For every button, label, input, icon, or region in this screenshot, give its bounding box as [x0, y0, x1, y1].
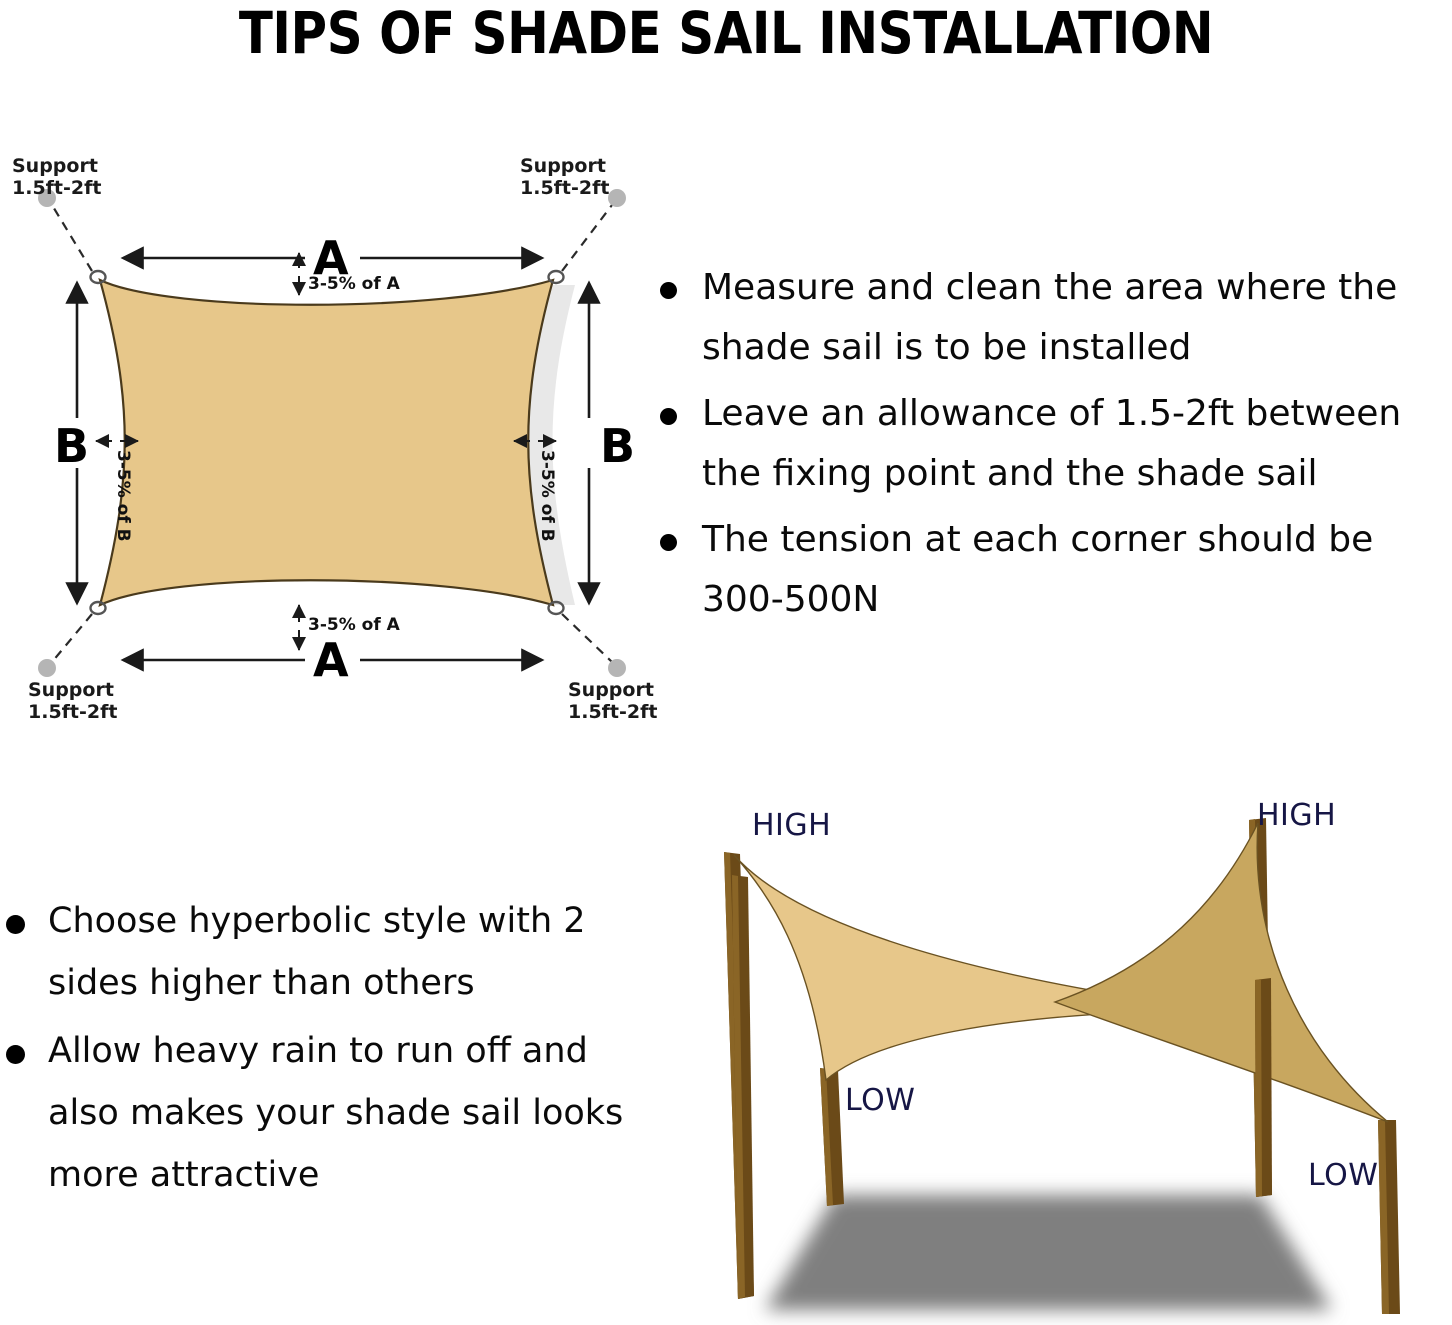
hyperbolic-tip-text: Allow heavy rain to run off and also mak…: [48, 1031, 623, 1195]
bullet-dot-icon: [6, 1045, 25, 1064]
pole-high-right-front: [1255, 978, 1272, 1197]
tip-text: Leave an allowance of 1.5-2ft between th…: [702, 393, 1401, 494]
label-low-right: LOW: [1308, 1158, 1378, 1193]
bullet-dot-icon: [6, 915, 25, 934]
shade-sail-body: [100, 280, 553, 605]
support-label-title: Support: [28, 679, 114, 701]
dimension-arrow-left: B: [54, 283, 89, 603]
list-item: The tension at each corner should be 300…: [648, 510, 1452, 630]
hyperbolic-bullet-list: Choose hyperbolic style with 2 sides hig…: [0, 890, 630, 1206]
support-label-bottom-right: Support 1.5ft-2ft: [568, 679, 657, 723]
support-label-title: Support: [520, 155, 606, 177]
support-line-top-right: [562, 205, 612, 271]
label-high-right: HIGH: [1257, 798, 1336, 833]
label-high-left: HIGH: [752, 808, 831, 843]
tip-text: The tension at each corner should be 300…: [702, 519, 1373, 620]
dimension-arrow-right: B: [589, 283, 635, 603]
support-dot-bottom-right: [608, 659, 626, 677]
curve-depth-bottom-label: 3-5% of A: [308, 615, 401, 635]
hyperbolic-tips-list: Choose hyperbolic style with 2 sides hig…: [0, 890, 630, 1240]
bullet-dot-icon: [660, 408, 677, 425]
bullet-dot-icon: [660, 282, 677, 299]
pole-high-left-front: [732, 875, 754, 1299]
curve-depth-top-label: 3-5% of A: [308, 274, 401, 294]
curve-depth-right-label: 3-5% of B: [537, 450, 557, 542]
ground-shadow: [765, 1195, 1332, 1310]
support-dot-top-right: [608, 189, 626, 207]
shade-sail-dark: [1055, 823, 1388, 1122]
hyperbolic-sail-illustration: HIGH HIGH LOW LOW: [660, 780, 1452, 1325]
dimension-arrow-bottom: A: [123, 633, 542, 687]
list-item: Choose hyperbolic style with 2 sides hig…: [0, 890, 630, 1014]
label-low-left: LOW: [845, 1083, 915, 1118]
list-item: Measure and clean the area where the sha…: [648, 258, 1452, 378]
support-line-top-left: [52, 205, 92, 271]
support-label-value: 1.5ft-2ft: [12, 177, 101, 199]
pole-low-right: [1378, 1120, 1400, 1314]
support-dot-bottom-left: [38, 659, 56, 677]
tip-text: Measure and clean the area where the sha…: [702, 267, 1397, 368]
installation-tips-list: Measure and clean the area where the sha…: [648, 258, 1452, 658]
corner-ring-top-right: [549, 271, 564, 283]
support-label-top-right: Support 1.5ft-2ft: [520, 155, 609, 199]
curve-depth-left: 3-5% of B: [96, 441, 138, 542]
dimension-letter-left: B: [54, 419, 89, 473]
corner-ring-bottom-left: [91, 602, 106, 614]
page-title: TIPS OF SHADE SAIL INSTALLATION: [102, 0, 1351, 66]
support-label-top-left: Support 1.5ft-2ft: [12, 155, 101, 199]
support-label-value: 1.5ft-2ft: [520, 177, 609, 199]
support-label-title: Support: [12, 155, 98, 177]
shade-sail-dimension-diagram: Support 1.5ft-2ft Support 1.5ft-2ft Supp…: [0, 150, 660, 740]
support-line-bottom-left: [52, 614, 92, 662]
hyperbolic-tip-text: Choose hyperbolic style with 2 sides hig…: [48, 901, 586, 1003]
support-label-title: Support: [568, 679, 654, 701]
support-label-bottom-left: Support 1.5ft-2ft: [28, 679, 117, 723]
support-label-value: 1.5ft-2ft: [28, 701, 117, 723]
corner-ring-top-left: [91, 271, 106, 283]
bullet-dot-icon: [660, 534, 677, 551]
support-label-value: 1.5ft-2ft: [568, 701, 657, 723]
pole-low-left: [820, 1068, 844, 1206]
support-line-bottom-right: [562, 614, 612, 662]
list-item: Allow heavy rain to run off and also mak…: [0, 1020, 630, 1206]
list-item: Leave an allowance of 1.5-2ft between th…: [648, 384, 1452, 504]
dimension-letter-bottom: A: [313, 633, 349, 687]
tips-bullet-list: Measure and clean the area where the sha…: [648, 258, 1452, 630]
dimension-letter-right: B: [600, 419, 635, 473]
curve-depth-left-label: 3-5% of B: [113, 450, 133, 542]
